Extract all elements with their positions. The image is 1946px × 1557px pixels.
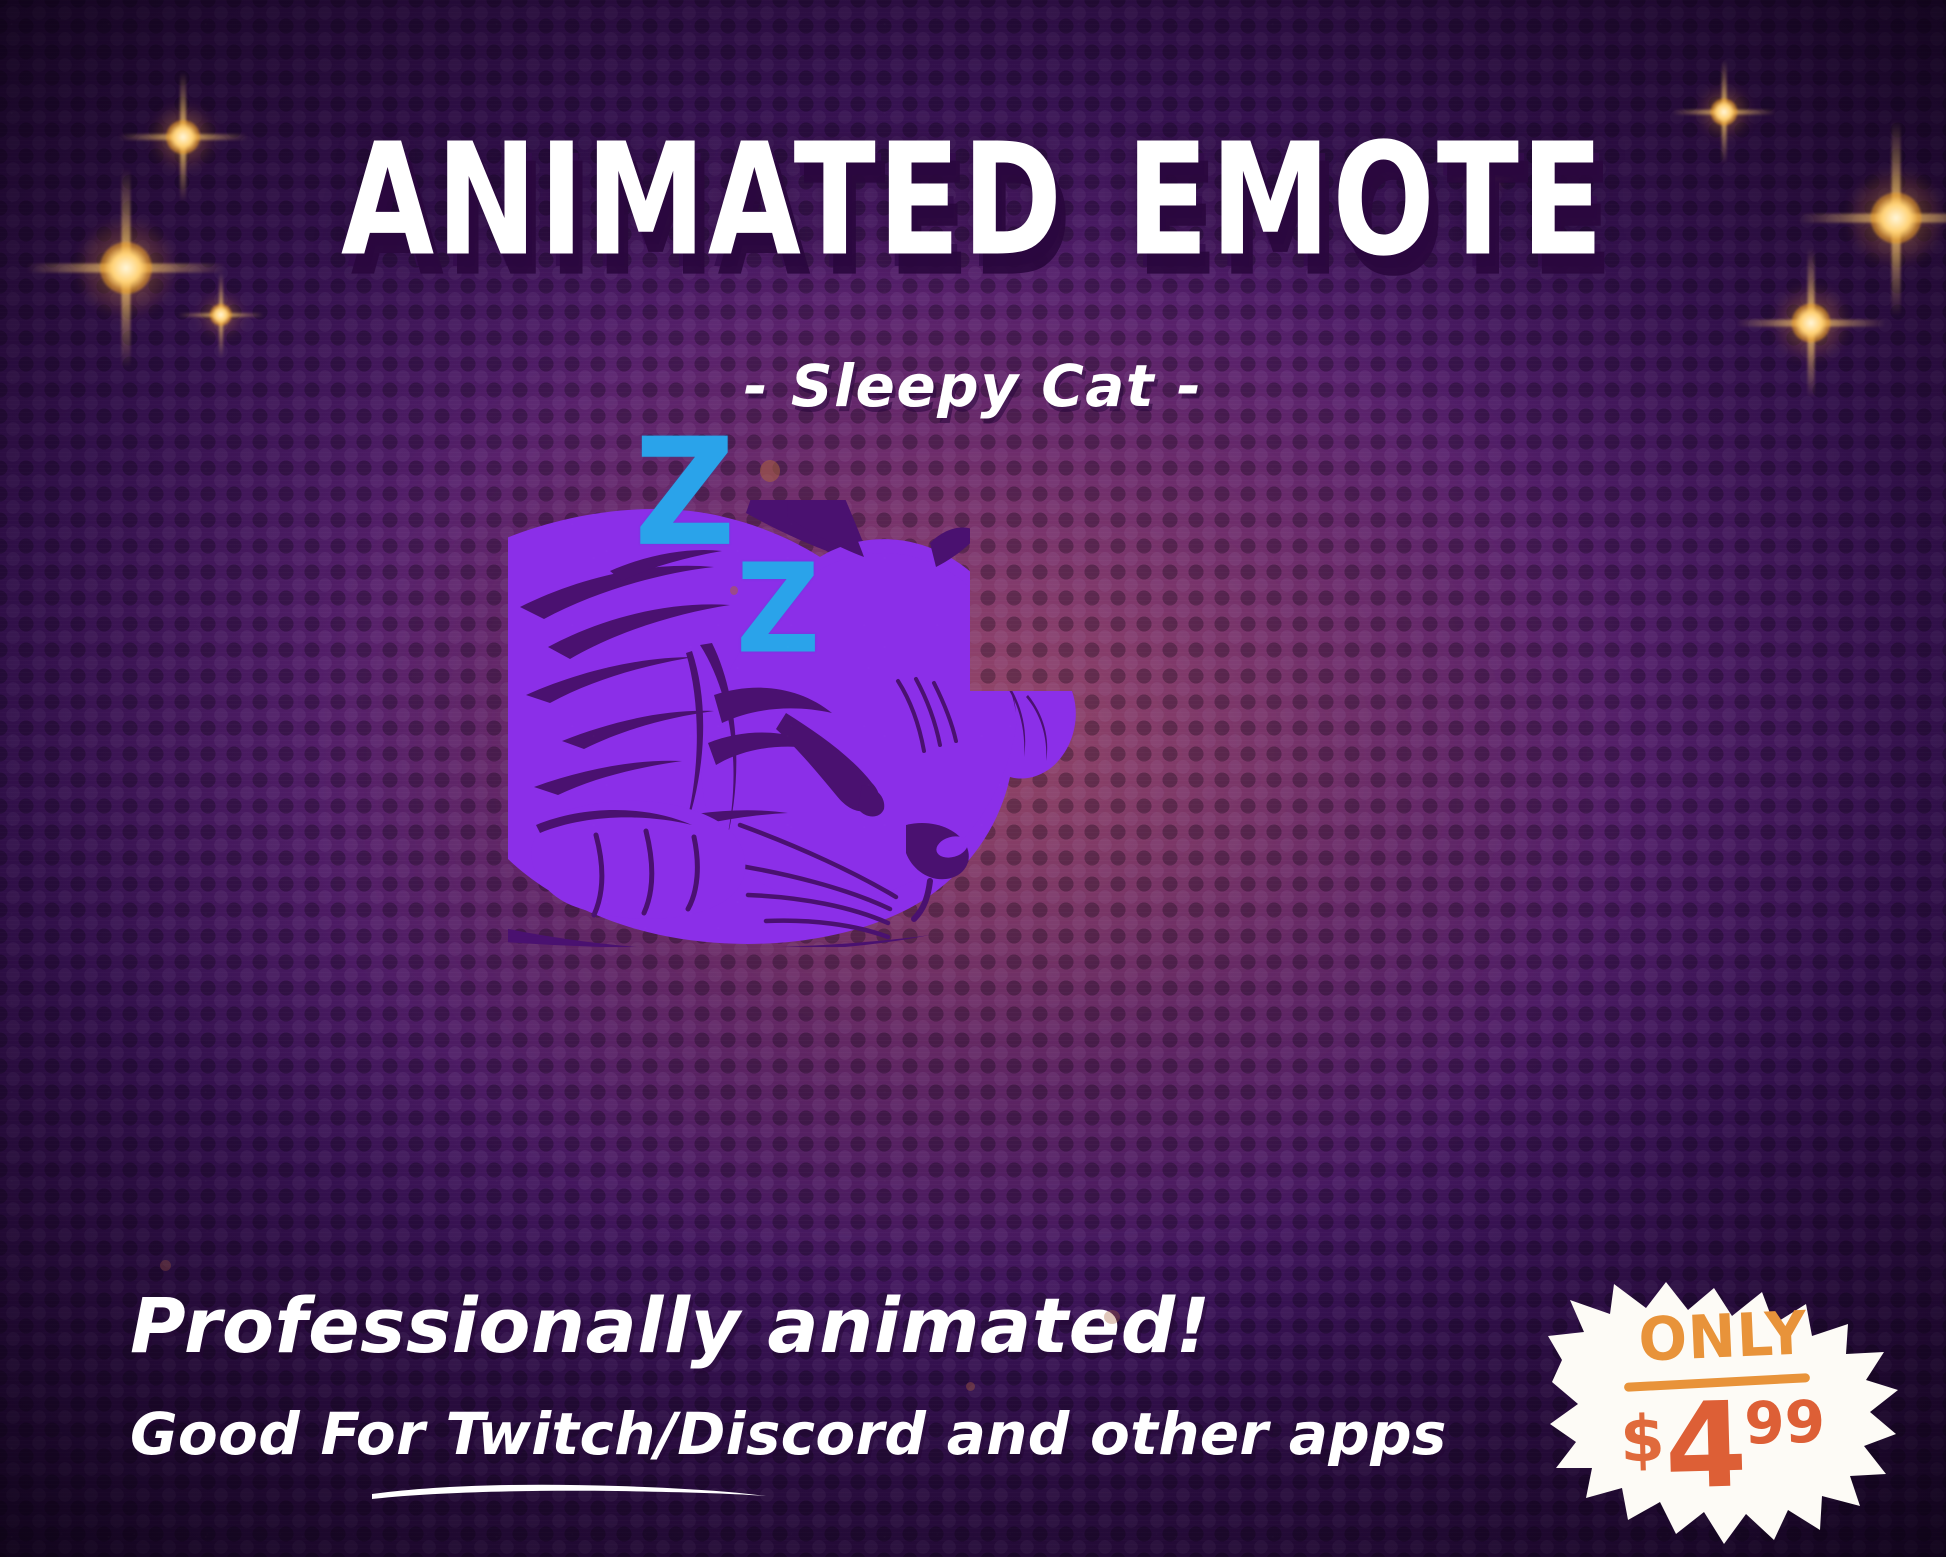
currency-symbol: $ <box>1619 1403 1663 1478</box>
compatibility-text: Good For Twitch/Discord and other apps <box>130 1400 1447 1468</box>
page-title: Animated Emote <box>341 72 1605 285</box>
tagline-text: Professionally animated! <box>130 1281 1211 1370</box>
title-block: Animated Emote <box>0 72 1946 241</box>
platform-names: Twitch/Discord <box>445 1400 926 1468</box>
dust-speck <box>160 1260 171 1271</box>
badge-price: $499 <box>1547 1381 1900 1508</box>
emote-promo-poster: Animated Emote - Sleepy Cat - <box>0 0 1946 1557</box>
compatibility-prefix: Good For <box>130 1400 445 1468</box>
price-amount: 4 <box>1663 1375 1747 1515</box>
price-cents: 99 <box>1744 1388 1826 1458</box>
dust-speck <box>966 1382 975 1391</box>
sleep-z-large: Z <box>634 420 736 568</box>
compatibility-suffix: and other apps <box>926 1400 1447 1468</box>
sleep-z-small: Z <box>736 549 820 672</box>
dust-speck <box>1104 1310 1120 1324</box>
dust-speck <box>730 586 738 595</box>
dust-speck <box>760 460 780 482</box>
price-badge[interactable]: ONLY $499 <box>1548 1282 1898 1544</box>
